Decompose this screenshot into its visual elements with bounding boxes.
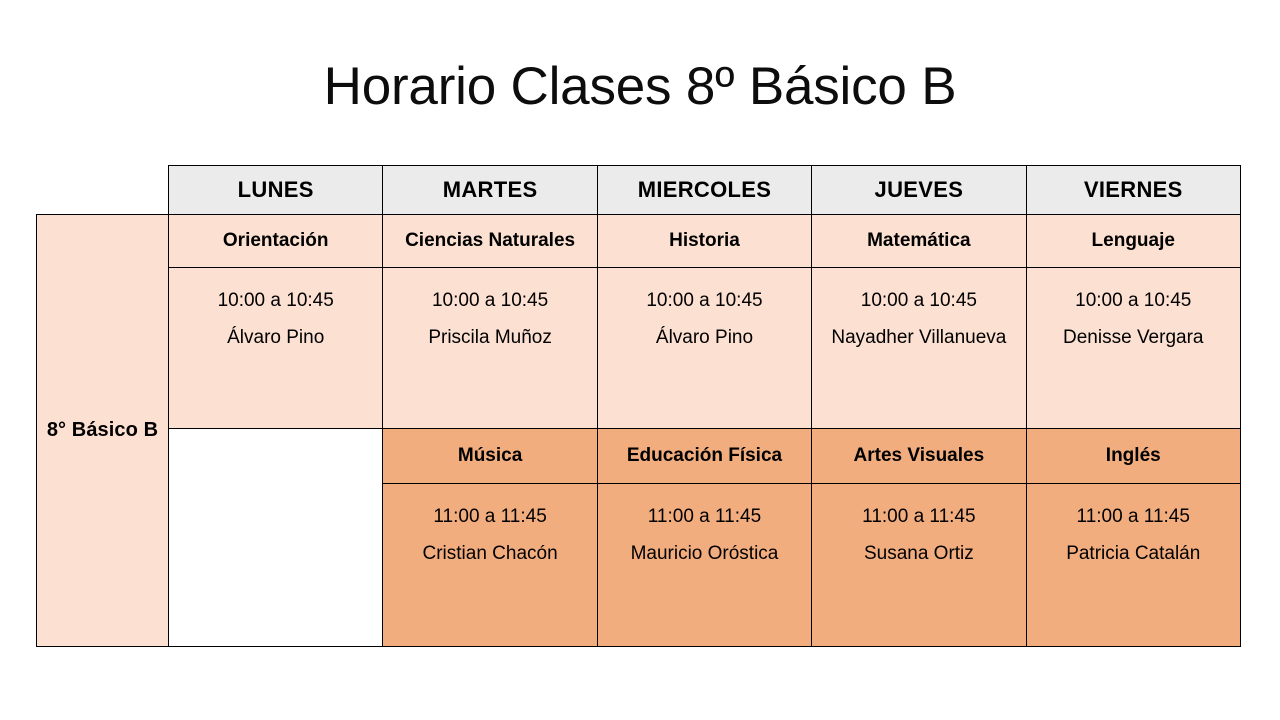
detail-inner: 11:00 a 11:45 Patricia Catalán [1027,484,1240,572]
teacher-name: Álvaro Pino [169,319,382,356]
day-header-viernes: VIERNES [1026,166,1240,215]
teacher-name: Patricia Catalán [1027,535,1240,572]
time-text: 10:00 a 10:45 [1027,282,1240,319]
table-row: Música Educación Física Artes Visuales I… [37,429,1241,484]
day-header-jueves: JUEVES [812,166,1026,215]
subject-cell-miercoles-block1: Historia [597,215,811,268]
teacher-name: Priscila Muñoz [383,319,596,356]
detail-cell-jueves-block2: 11:00 a 11:45 Susana Ortiz [812,484,1026,647]
teacher-name: Nayadher Villanueva [812,319,1025,356]
time-text: 11:00 a 11:45 [383,498,596,535]
detail-cell-martes-block2: 11:00 a 11:45 Cristian Chacón [383,484,597,647]
detail-inner: 11:00 a 11:45 Mauricio Oróstica [598,484,811,572]
subject-cell-martes-block2: Música [383,429,597,484]
teacher-name: Cristian Chacón [383,535,596,572]
detail-inner: 10:00 a 10:45 Álvaro Pino [169,268,382,356]
day-header-miercoles: MIERCOLES [597,166,811,215]
table-corner-cell [37,166,169,215]
subject-cell-jueves-block2: Artes Visuales [812,429,1026,484]
time-text: 10:00 a 10:45 [169,282,382,319]
detail-inner: 11:00 a 11:45 Cristian Chacón [383,484,596,572]
detail-inner: 10:00 a 10:45 Priscila Muñoz [383,268,596,356]
slide-canvas: Horario Clases 8º Básico B LUNES MARTES … [0,0,1280,720]
page-title: Horario Clases 8º Básico B [0,58,1280,116]
time-text: 10:00 a 10:45 [383,282,596,319]
teacher-name: Mauricio Oróstica [598,535,811,572]
detail-inner: 10:00 a 10:45 Denisse Vergara [1027,268,1240,356]
detail-cell-viernes-block2: 11:00 a 11:45 Patricia Catalán [1026,484,1240,647]
subject-cell-martes-block1: Ciencias Naturales [383,215,597,268]
subject-cell-jueves-block1: Matemática [812,215,1026,268]
table-row: 10:00 a 10:45 Álvaro Pino 10:00 a 10:45 … [37,268,1241,429]
time-text: 10:00 a 10:45 [598,282,811,319]
subject-cell-miercoles-block2: Educación Física [597,429,811,484]
empty-cell-lunes-block2 [169,429,383,647]
schedule-table: LUNES MARTES MIERCOLES JUEVES VIERNES 8°… [36,165,1241,647]
detail-cell-miercoles-block2: 11:00 a 11:45 Mauricio Oróstica [597,484,811,647]
schedule-table-container: LUNES MARTES MIERCOLES JUEVES VIERNES 8°… [36,165,1240,647]
subject-cell-viernes-block2: Inglés [1026,429,1240,484]
teacher-name: Denisse Vergara [1027,319,1240,356]
detail-cell-viernes-block1: 10:00 a 10:45 Denisse Vergara [1026,268,1240,429]
table-row: 8° Básico B Orientación Ciencias Natural… [37,215,1241,268]
detail-inner: 11:00 a 11:45 Susana Ortiz [812,484,1025,572]
time-text: 11:00 a 11:45 [598,498,811,535]
detail-cell-martes-block1: 10:00 a 10:45 Priscila Muñoz [383,268,597,429]
day-header-martes: MARTES [383,166,597,215]
teacher-name: Álvaro Pino [598,319,811,356]
teacher-name: Susana Ortiz [812,535,1025,572]
time-text: 11:00 a 11:45 [1027,498,1240,535]
table-header: LUNES MARTES MIERCOLES JUEVES VIERNES [37,166,1241,215]
detail-cell-lunes-block1: 10:00 a 10:45 Álvaro Pino [169,268,383,429]
table-body: 8° Básico B Orientación Ciencias Natural… [37,215,1241,647]
header-row: LUNES MARTES MIERCOLES JUEVES VIERNES [37,166,1241,215]
detail-cell-miercoles-block1: 10:00 a 10:45 Álvaro Pino [597,268,811,429]
detail-cell-jueves-block1: 10:00 a 10:45 Nayadher Villanueva [812,268,1026,429]
detail-inner: 10:00 a 10:45 Nayadher Villanueva [812,268,1025,356]
subject-cell-viernes-block1: Lenguaje [1026,215,1240,268]
subject-cell-lunes-block1: Orientación [169,215,383,268]
time-text: 11:00 a 11:45 [812,498,1025,535]
day-header-lunes: LUNES [169,166,383,215]
detail-inner: 10:00 a 10:45 Álvaro Pino [598,268,811,356]
row-label-grade: 8° Básico B [37,215,169,647]
time-text: 10:00 a 10:45 [812,282,1025,319]
